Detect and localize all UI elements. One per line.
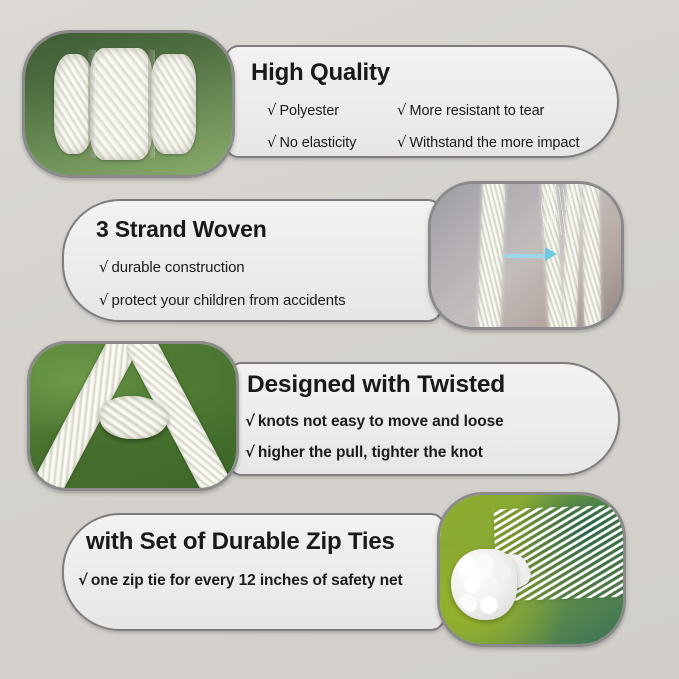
panel-title-high-quality: High Quality bbox=[251, 59, 390, 87]
rope-seam-left bbox=[88, 50, 95, 157]
rope-separated-strand-3 bbox=[582, 181, 602, 330]
rope-bundle-illustration bbox=[54, 54, 203, 153]
check-icon: √ bbox=[99, 258, 108, 276]
bullet-text: No elasticity bbox=[279, 135, 356, 151]
arrow-right-head-icon bbox=[545, 247, 557, 261]
infographic-stage: High Quality √Polyester √No elasticity √… bbox=[0, 0, 679, 679]
feature-panel-high-quality: High Quality √Polyester √No elasticity √… bbox=[225, 45, 619, 158]
arrow-right-icon bbox=[503, 254, 549, 258]
rope-seam-right bbox=[148, 50, 155, 157]
bullet-text: Polyester bbox=[279, 103, 339, 119]
check-icon: √ bbox=[245, 443, 255, 461]
panel-title-designed-with-twisted: Designed with Twisted bbox=[247, 371, 505, 399]
check-icon: √ bbox=[397, 133, 406, 151]
bullet-protect-children: √protect your children from accidents bbox=[99, 291, 345, 309]
knot-center bbox=[100, 396, 168, 439]
bullet-no-elasticity: √No elasticity bbox=[267, 133, 356, 151]
check-icon: √ bbox=[99, 291, 108, 309]
bullet-text: higher the pull, tighter the knot bbox=[258, 444, 483, 461]
zip-tie-heads bbox=[451, 549, 517, 621]
rope-coil-right bbox=[151, 54, 196, 153]
bullet-one-zip-tie-per-12-inches: √one zip tie for every 12 inches of safe… bbox=[78, 571, 403, 590]
bullet-withstand-more-impact: √Withstand the more impact bbox=[397, 133, 579, 151]
feature-panel-durable-zip-ties: with Set of Durable Zip Ties √one zip ti… bbox=[62, 513, 445, 631]
rope-coil-center bbox=[90, 48, 153, 159]
rope-frayed-fibers bbox=[541, 187, 571, 236]
polyester-rope-bundle-photo bbox=[22, 30, 235, 178]
bullet-more-resistant-to-tear: √More resistant to tear bbox=[397, 101, 544, 119]
bullet-text: Withstand the more impact bbox=[409, 135, 579, 151]
three-strand-unwound-photo bbox=[428, 181, 624, 330]
check-icon: √ bbox=[267, 101, 276, 119]
bullet-text: knots not easy to move and loose bbox=[258, 413, 504, 430]
panel-title-durable-zip-ties: with Set of Durable Zip Ties bbox=[86, 528, 395, 556]
check-icon: √ bbox=[267, 133, 276, 151]
zip-ties-bundle-photo bbox=[437, 492, 626, 647]
check-icon: √ bbox=[397, 101, 406, 119]
bullet-text: protect your children from accidents bbox=[111, 292, 345, 309]
bullet-higher-pull-tighter-knot: √higher the pull, tighter the knot bbox=[245, 443, 483, 462]
bullet-text: durable construction bbox=[111, 259, 244, 276]
bullet-text: More resistant to tear bbox=[409, 103, 544, 119]
check-icon: √ bbox=[78, 571, 88, 589]
bullet-durable-construction: √durable construction bbox=[99, 258, 245, 276]
panel-title-three-strand-woven: 3 Strand Woven bbox=[96, 216, 267, 243]
bullet-knots-not-easy-to-move: √knots not easy to move and loose bbox=[245, 412, 504, 431]
bullet-polyester: √Polyester bbox=[267, 101, 339, 119]
check-icon: √ bbox=[245, 412, 255, 430]
feature-panel-designed-with-twisted: Designed with Twisted √knots not easy to… bbox=[228, 362, 620, 476]
rope-coil-left bbox=[54, 54, 93, 153]
bullet-text: one zip tie for every 12 inches of safet… bbox=[91, 572, 403, 589]
twisted-knot-photo bbox=[27, 341, 239, 491]
feature-panel-three-strand-woven: 3 Strand Woven √durable construction √pr… bbox=[62, 199, 442, 322]
